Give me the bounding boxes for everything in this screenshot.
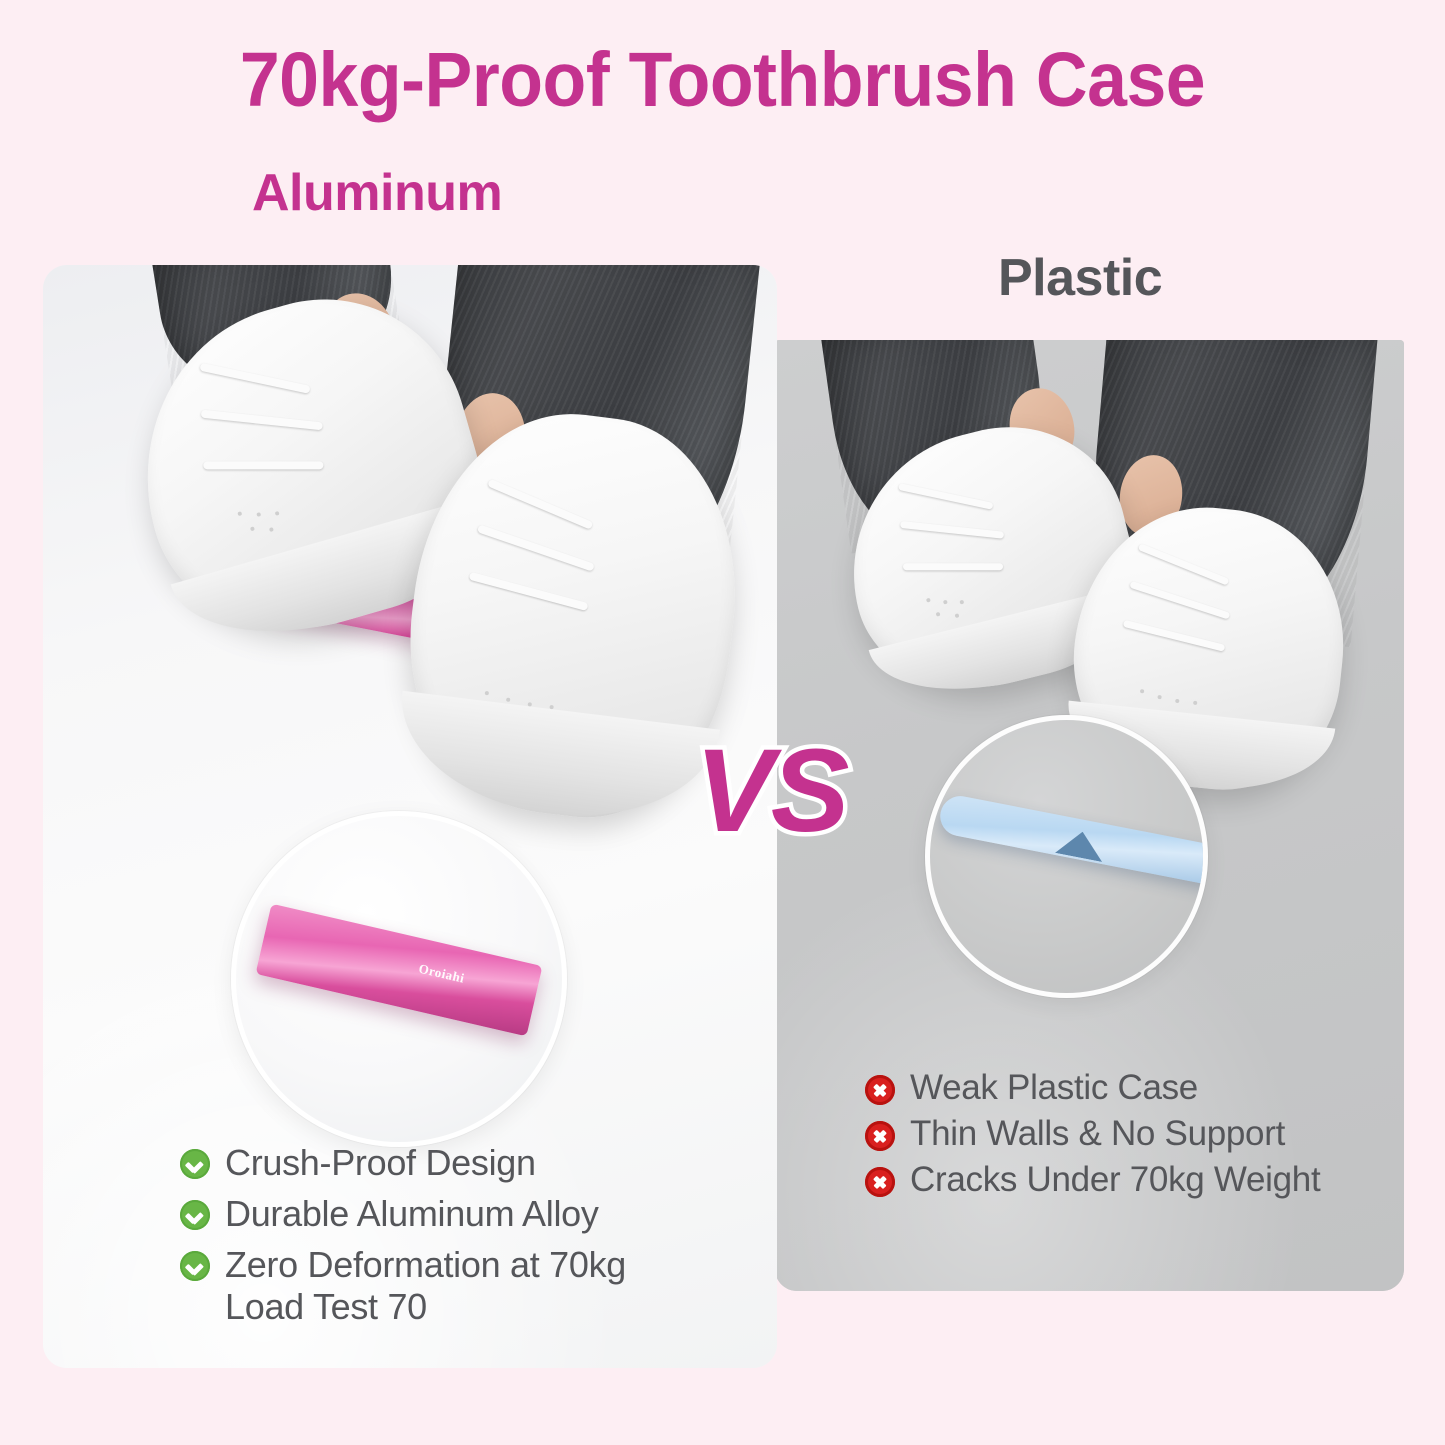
page-title: 70kg-Proof Toothbrush Case <box>51 36 1395 125</box>
shoe-perforation <box>269 527 274 532</box>
list-item: Cracks Under 70kg Weight <box>865 1160 1365 1201</box>
list-item-label: Cracks Under 70kg Weight <box>910 1160 1320 1201</box>
cross-circle-icon <box>865 1167 895 1197</box>
list-item: Durable Aluminum Alloy <box>180 1193 700 1235</box>
shoelace <box>1129 581 1230 620</box>
shoelace <box>1123 620 1226 652</box>
check-circle-icon <box>180 1149 210 1179</box>
shoe-perforation <box>250 526 255 531</box>
shoe-perforation <box>1175 699 1179 703</box>
shoelace <box>487 479 593 530</box>
shoelace <box>203 461 323 469</box>
cross-circle-icon <box>865 1075 895 1105</box>
shoe-perforation <box>1157 695 1161 699</box>
check-circle-icon <box>180 1251 210 1281</box>
aluminum-case-closeup-circle: Oroiahi <box>231 811 567 1147</box>
infographic-canvas: 70kg-Proof Toothbrush Case Aluminum Plas… <box>0 0 1445 1445</box>
aluminum-case-closeup: Oroiahi <box>255 904 542 1037</box>
shoelace <box>900 521 1004 539</box>
shoe-perforation <box>959 600 964 605</box>
check-circle-icon <box>180 1200 210 1230</box>
list-item-label: Zero Deformation at 70kg Load Test 70 <box>225 1244 700 1328</box>
plastic-case-closeup-circle <box>925 715 1208 998</box>
shoe-perforation <box>955 613 960 618</box>
shoe-perforation <box>1193 701 1197 705</box>
cross-circle-icon <box>865 1121 895 1151</box>
shoe-perforation <box>237 511 242 516</box>
list-item-label: Durable Aluminum Alloy <box>225 1193 599 1235</box>
shoe-perforation <box>1140 689 1144 693</box>
list-item-label: Thin Walls & No Support <box>910 1114 1285 1155</box>
shoe-perforation <box>275 511 280 516</box>
shoelace <box>199 363 310 394</box>
shoelace <box>898 483 993 510</box>
list-item: Weak Plastic Case <box>865 1068 1365 1109</box>
list-item: Crush-Proof Design <box>180 1142 700 1184</box>
list-item-label: Crush-Proof Design <box>225 1142 536 1184</box>
product-brand-label-closeup: Oroiahi <box>417 961 466 987</box>
aluminum-column-heading: Aluminum <box>252 163 502 223</box>
shoelace <box>201 410 323 431</box>
list-item: Zero Deformation at 70kg Load Test 70 <box>180 1244 700 1328</box>
shoe-perforation <box>485 691 489 695</box>
shoe-perforation <box>943 600 948 605</box>
plastic-case-closeup <box>937 793 1208 888</box>
shoe-perforation <box>926 598 931 603</box>
shoe-perforation <box>506 698 510 702</box>
versus-badge: VS <box>695 723 846 859</box>
crack-mark-closeup <box>1055 827 1107 862</box>
shoe-perforation <box>936 612 941 617</box>
list-item-label: Weak Plastic Case <box>910 1068 1198 1109</box>
shoelace <box>469 572 589 611</box>
shoe-perforation <box>256 512 261 517</box>
list-item: Thin Walls & No Support <box>865 1114 1365 1155</box>
plastic-drawbacks-list: Weak Plastic Case Thin Walls & No Suppor… <box>865 1068 1365 1206</box>
shoelace <box>477 524 595 571</box>
plastic-column-heading: Plastic <box>998 248 1162 308</box>
shoelace <box>903 563 1003 570</box>
shoelace <box>1138 543 1230 585</box>
aluminum-benefits-list: Crush-Proof Design Durable Aluminum Allo… <box>180 1142 700 1337</box>
